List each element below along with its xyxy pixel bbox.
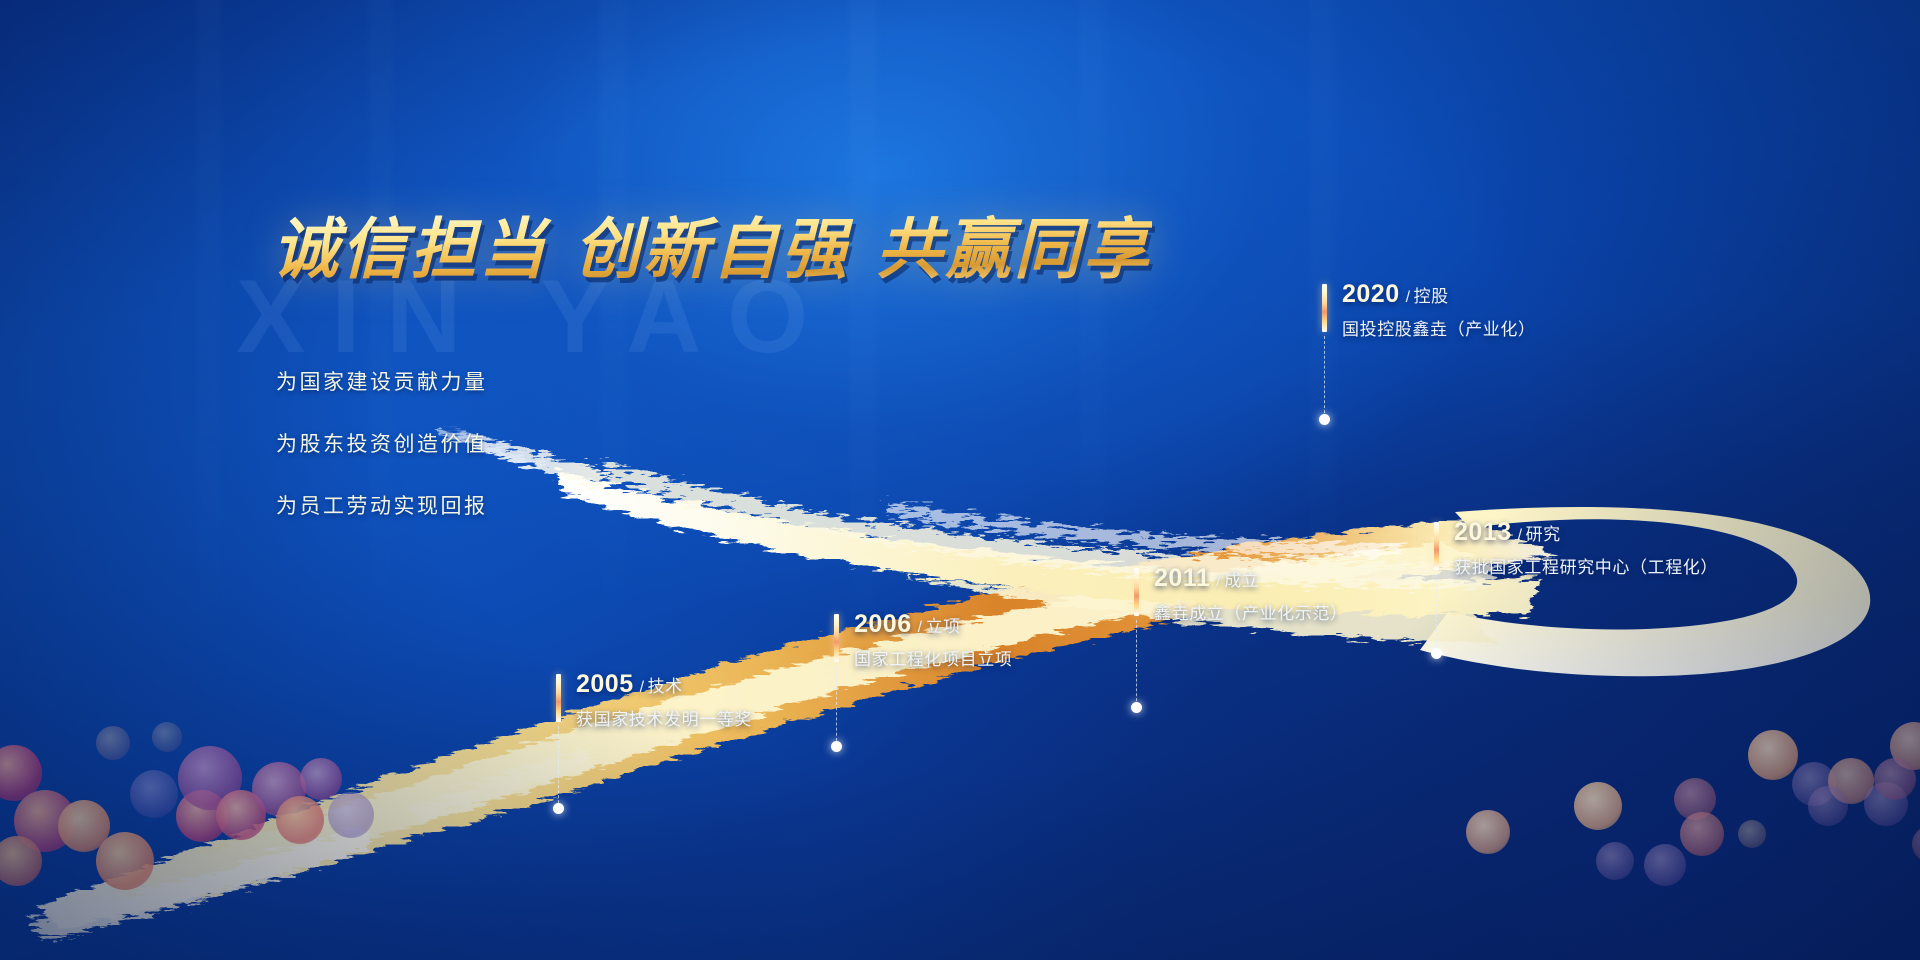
- headline-part-2: 创新自强: [574, 210, 850, 288]
- headline-part-3: 共赢同享: [876, 210, 1152, 288]
- milestone-year-value: 2005: [576, 670, 634, 698]
- subtitle-line-2: 为股东投资创造价值: [276, 428, 488, 458]
- milestone-2020-dot[interactable]: [1319, 414, 1330, 425]
- milestone-2013-dot[interactable]: [1431, 648, 1442, 659]
- milestone-accent-bar: [1434, 522, 1439, 570]
- milestone-2011-leader-line: [1136, 620, 1137, 706]
- milestone-2013-leader-line: [1436, 574, 1437, 652]
- milestone-description: 鑫垚成立（产业化示范）: [1154, 599, 1348, 624]
- vignette-overlay: [0, 0, 1920, 960]
- milestone-year: 2011/成立: [1154, 564, 1259, 593]
- brush-stroke-ribbon: [0, 0, 1920, 960]
- subtitle-line-3: 为员工劳动实现回报: [276, 490, 488, 520]
- milestone-accent-bar: [1322, 284, 1327, 332]
- milestone-separator: /: [1406, 289, 1411, 306]
- milestone-description: 国投控股鑫垚（产业化）: [1342, 315, 1536, 340]
- milestone-2011-dot[interactable]: [1131, 702, 1142, 713]
- milestone-year-value: 2013: [1454, 518, 1512, 546]
- milestone-accent-bar: [834, 614, 839, 662]
- milestone-year: 2005/技术: [576, 670, 683, 699]
- milestone-2006-leader-line: [836, 666, 837, 746]
- milestone-tag: 技术: [648, 677, 683, 696]
- headline-part-1: 诚信担当: [272, 210, 548, 288]
- milestone-description: 获批国家工程研究中心（工程化）: [1454, 553, 1718, 578]
- milestone-accent-bar: [556, 674, 561, 722]
- milestone-2005-leader-line: [558, 726, 559, 808]
- milestone-2006-dot[interactable]: [831, 741, 842, 752]
- milestone-year-value: 2020: [1342, 280, 1400, 308]
- milestone-2005-dot[interactable]: [553, 803, 564, 814]
- milestone-tag: 控股: [1414, 287, 1449, 306]
- milestone-year: 2020/控股: [1342, 280, 1449, 309]
- subtitle-line-1: 为国家建设贡献力量: [276, 366, 488, 396]
- milestone-year-value: 2011: [1154, 564, 1210, 592]
- milestone-tag: 成立: [1224, 571, 1259, 590]
- milestone-accent-bar: [1134, 568, 1139, 616]
- milestone-separator: /: [1518, 527, 1523, 544]
- milestone-year-value: 2006: [854, 610, 912, 638]
- milestone-tag: 研究: [1526, 525, 1561, 544]
- milestone-2020-leader-line: [1324, 336, 1325, 418]
- milestone-description: 获国家技术发明一等奖: [576, 705, 752, 730]
- milestone-separator: /: [918, 619, 923, 636]
- page-title: 诚信担当创新自强共赢同享: [272, 196, 1152, 292]
- milestone-tag: 立项: [926, 617, 961, 636]
- milestone-separator: /: [640, 679, 645, 696]
- milestone-year: 2006/立项: [854, 610, 961, 639]
- background-light-streaks: [0, 0, 1920, 960]
- milestone-description: 国家工程化项目立项: [854, 645, 1012, 670]
- milestone-year: 2013/研究: [1454, 518, 1561, 547]
- banner-root: XIN YAO 诚信担当创新自强共赢同享 为国家建设贡献力量 为股东投资创造价值…: [0, 0, 1920, 960]
- milestone-separator: /: [1216, 573, 1221, 590]
